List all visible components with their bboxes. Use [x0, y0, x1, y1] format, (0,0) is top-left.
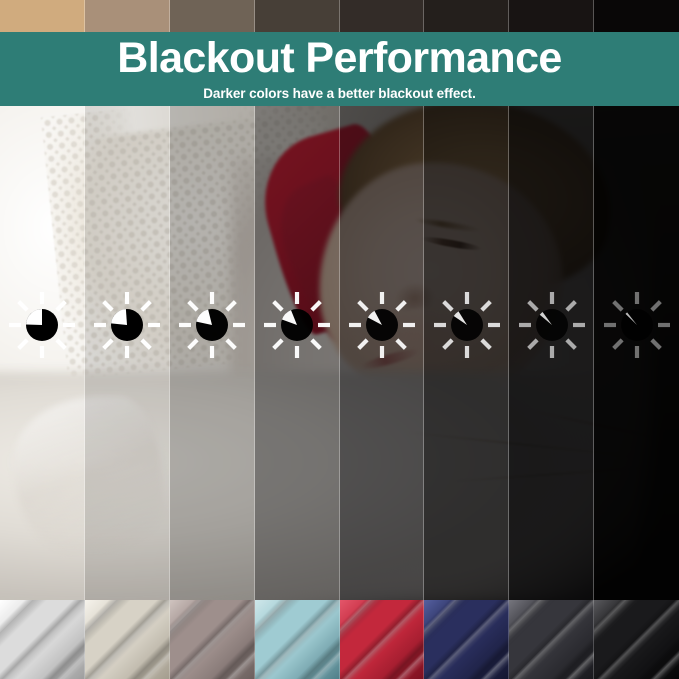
tone-band-black [594, 0, 679, 32]
fabric-swatch-red[interactable] [340, 600, 425, 679]
tone-band-dark-brown [255, 0, 340, 32]
swatch-fold-shadow [424, 600, 509, 679]
tone-band-near-black-brown [424, 0, 509, 32]
swatch-fold-shadow [340, 600, 425, 679]
title-banner: Blackout Performance Darker colors have … [0, 32, 679, 106]
blackout-performance-poster: Blackout Performance Darker colors have … [0, 0, 679, 679]
tone-band-charcoal-black [509, 0, 594, 32]
swatch-fold-shadow [509, 600, 594, 679]
fabric-swatch-dark-grey[interactable] [509, 600, 594, 679]
tone-band-warm-taupe [85, 0, 170, 32]
tone-band-espresso [340, 0, 425, 32]
tone-band-brown-grey [170, 0, 255, 32]
top-fabric-tone-strip [0, 0, 679, 32]
fabric-swatch-white[interactable] [0, 600, 85, 679]
fabric-swatch-cream-beige[interactable] [85, 600, 170, 679]
swatch-fold-shadow [594, 600, 679, 679]
swatch-fold-shadow [170, 600, 255, 679]
fabric-swatch-navy-blue[interactable] [424, 600, 509, 679]
tone-band-tan [0, 0, 85, 32]
page-subtitle: Darker colors have a better blackout eff… [203, 87, 475, 101]
fabric-swatch-black[interactable] [594, 600, 679, 679]
swatch-fold-shadow [0, 600, 85, 679]
fabric-swatch-taupe[interactable] [170, 600, 255, 679]
fabric-swatch-sky-blue[interactable] [255, 600, 340, 679]
swatch-fold-shadow [85, 600, 170, 679]
swatch-fold-shadow [255, 600, 340, 679]
fabric-swatch-strip [0, 600, 679, 679]
page-title: Blackout Performance [117, 37, 561, 80]
